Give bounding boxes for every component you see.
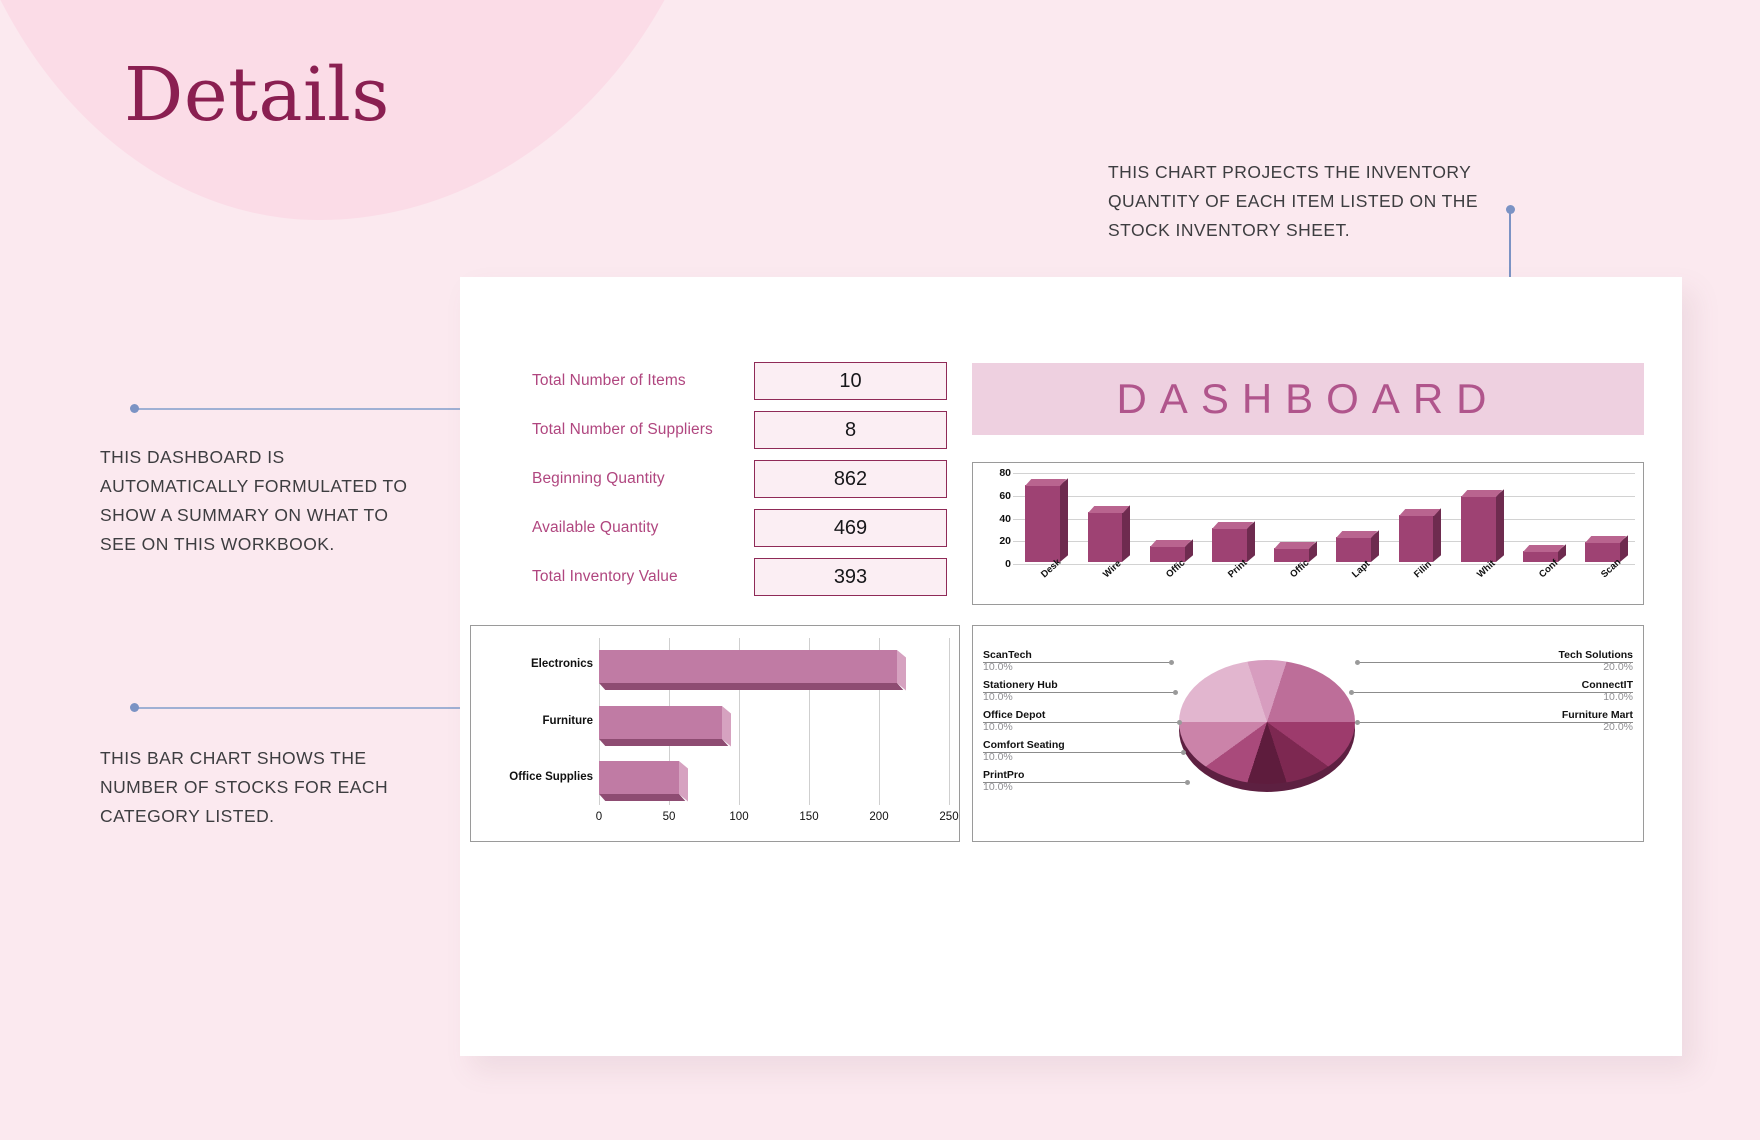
column-chart-y-tick: 60 — [981, 490, 1011, 502]
pie-callout-node — [1169, 660, 1174, 665]
column-chart-y-tick: 80 — [981, 467, 1011, 479]
pie-callout-label: Stationery Hub10.0% — [983, 679, 1058, 703]
pie-callout-label: Office Depot10.0% — [983, 709, 1045, 733]
bar-chart-x-tick: 0 — [596, 811, 602, 823]
column-chart-plot — [1013, 473, 1635, 562]
bar-front-face — [1088, 512, 1123, 562]
bar-side-face — [1496, 489, 1504, 562]
pie-slice-name: Furniture Mart — [1562, 709, 1633, 721]
bar-side-face — [1060, 478, 1068, 562]
annotation-column-chart: THIS CHART PROJECTS THE INVENTORY QUANTI… — [1108, 158, 1488, 245]
stat-label: Total Number of Items — [532, 372, 754, 390]
bar-front-face — [599, 706, 722, 739]
summary-stats: Total Number of Items 10 Total Number of… — [532, 362, 957, 607]
column-chart-x-axis: DeskWireOfficPrintOfficLaptFilinWhitConf… — [1013, 562, 1635, 604]
stat-value-beginning-quantity[interactable]: 862 — [754, 460, 947, 498]
page-title: Details — [124, 52, 390, 138]
bar-chart-category-axis: ElectronicsFurnitureOffice Supplies — [477, 636, 597, 805]
pie-callout-node — [1177, 720, 1182, 725]
bar-bottom-face — [599, 794, 685, 801]
bar-top-face — [1212, 522, 1253, 529]
bar-side-face — [1122, 505, 1130, 562]
column-chart-x-tick: Lapt — [1350, 559, 1372, 581]
bar-front-face — [1336, 537, 1371, 562]
bar-chart-bar[interactable] — [599, 761, 679, 794]
bar-chart-x-tick: 250 — [939, 811, 958, 823]
column-chart-bar[interactable] — [1088, 512, 1123, 562]
bar-chart-plot — [599, 638, 949, 805]
dashboard-banner: DASHBOARD — [972, 363, 1644, 435]
column-chart-bar[interactable] — [1025, 485, 1060, 562]
pie-slice-name: PrintPro — [983, 769, 1024, 781]
bar-front-face — [599, 761, 679, 794]
bar-top-face — [1461, 490, 1502, 497]
stat-row: Total Number of Items 10 — [532, 362, 957, 400]
bar-top-face — [1150, 540, 1191, 547]
pie-slice-name: Tech Solutions — [1559, 649, 1633, 661]
stat-row: Total Number of Suppliers 8 — [532, 411, 957, 449]
column-chart-bar[interactable] — [1461, 496, 1496, 562]
bar-chart-category-label: Office Supplies — [509, 771, 593, 783]
pie-callout-label: Tech Solutions20.0% — [1559, 649, 1633, 673]
pie-callout-line — [1359, 722, 1633, 723]
pie-slice-name: Stationery Hub — [983, 679, 1058, 691]
stat-value-total-suppliers[interactable]: 8 — [754, 411, 947, 449]
bar-chart-category-label: Electronics — [531, 658, 593, 670]
connector-dot-top — [1506, 205, 1515, 214]
column-chart-y-tick: 20 — [981, 535, 1011, 547]
pie-callout-line — [983, 752, 1183, 753]
stat-value-total-items[interactable]: 10 — [754, 362, 947, 400]
pie-slice-name: ConnectIT — [1582, 679, 1633, 691]
pie-callout-line — [983, 662, 1171, 663]
dashboard-sheet: Total Number of Items 10 Total Number of… — [460, 277, 1682, 1056]
pie-graphic — [1177, 654, 1357, 804]
pie-callout-label: ScanTech10.0% — [983, 649, 1032, 673]
bar-top-face — [1585, 536, 1626, 543]
stat-label: Available Quantity — [532, 519, 754, 537]
column-chart-gridline — [1013, 473, 1635, 474]
stat-row: Available Quantity 469 — [532, 509, 957, 547]
bar-side-face — [1433, 509, 1441, 562]
bar-front-face — [1025, 485, 1060, 562]
bar-chart-x-tick: 50 — [663, 811, 676, 823]
pie-callout-line — [1353, 692, 1633, 693]
stat-value-total-inventory-value[interactable]: 393 — [754, 558, 947, 596]
bar-top-face — [1025, 479, 1066, 486]
bar-chart-x-tick: 200 — [869, 811, 888, 823]
bar-chart-x-tick: 150 — [799, 811, 818, 823]
chart-items-per-supplier[interactable]: ScanTech10.0%Stationery Hub10.0%Office D… — [972, 625, 1644, 842]
pie-callout-node — [1173, 690, 1178, 695]
pie-callout-node — [1185, 780, 1190, 785]
stat-value-available-quantity[interactable]: 469 — [754, 509, 947, 547]
connector-dot-left2 — [130, 703, 139, 712]
bar-front-face — [1399, 515, 1434, 562]
pie-slices — [1179, 660, 1355, 784]
bar-bottom-face — [599, 683, 903, 690]
connector-dot-left1 — [130, 404, 139, 413]
pie-callout-node — [1355, 660, 1360, 665]
bar-chart-category-label: Furniture — [543, 715, 593, 727]
pie-callout-line — [1359, 662, 1633, 663]
column-chart-y-tick: 40 — [981, 513, 1011, 525]
bar-bottom-face — [599, 739, 728, 746]
pie-callout-node — [1355, 720, 1360, 725]
stat-label: Total Number of Suppliers — [532, 421, 754, 439]
pie-callout-line — [983, 722, 1179, 723]
bar-top-face — [1088, 506, 1129, 513]
bar-chart-bar[interactable] — [599, 706, 722, 739]
bar-chart-gridline — [949, 638, 950, 805]
bar-chart-x-axis: 050100150200250 — [599, 809, 949, 833]
bar-top-face — [1399, 509, 1440, 516]
pie-callout-node — [1349, 690, 1354, 695]
pie-callout-label: Furniture Mart20.0% — [1562, 709, 1633, 733]
column-chart-bar[interactable] — [1399, 515, 1434, 562]
pie-slice-name: Comfort Seating — [983, 739, 1065, 751]
bar-top-face — [1523, 545, 1564, 552]
pie-callout-label: Comfort Seating10.0% — [983, 739, 1065, 763]
column-chart-x-tick: Whit — [1475, 558, 1498, 580]
column-chart-x-tick: Wire — [1101, 558, 1124, 580]
pie-callout-label: ConnectIT10.0% — [1582, 679, 1633, 703]
column-chart-y-tick: 0 — [981, 558, 1011, 570]
column-chart-gridline — [1013, 496, 1635, 497]
stat-label: Beginning Quantity — [532, 470, 754, 488]
stat-label: Total Inventory Value — [532, 568, 754, 586]
bar-front-face — [599, 650, 897, 683]
bar-chart-bar[interactable] — [599, 650, 897, 683]
pie-callout-label: PrintPro10.0% — [983, 769, 1024, 793]
bar-front-face — [1461, 496, 1496, 562]
column-chart-x-tick: Filin — [1412, 559, 1434, 580]
column-chart-bar[interactable] — [1336, 537, 1371, 562]
chart-stocks-by-category[interactable]: ElectronicsFurnitureOffice Supplies 0501… — [470, 625, 960, 842]
dashboard-banner-label: DASHBOARD — [1116, 375, 1499, 423]
bar-chart-x-tick: 100 — [729, 811, 748, 823]
annotation-dashboard: THIS DASHBOARD IS AUTOMATICALLY FORMULAT… — [100, 443, 430, 559]
pie-callout-line — [983, 692, 1175, 693]
pie-slice-name: Office Depot — [983, 709, 1045, 721]
bar-top-face — [1274, 542, 1315, 549]
stat-row: Beginning Quantity 862 — [532, 460, 957, 498]
bar-top-face — [1336, 531, 1377, 538]
annotation-bar-chart: THIS BAR CHART SHOWS THE NUMBER OF STOCK… — [100, 744, 410, 831]
column-chart-y-axis: 020406080 — [977, 463, 1011, 604]
chart-inventory-quantity-by-item[interactable]: 020406080 DeskWireOfficPrintOfficLaptFil… — [972, 462, 1644, 605]
pie-slice-name: ScanTech — [983, 649, 1032, 661]
pie-callout-node — [1181, 750, 1186, 755]
stat-row: Total Inventory Value 393 — [532, 558, 957, 596]
pie-callout-line — [983, 782, 1187, 783]
